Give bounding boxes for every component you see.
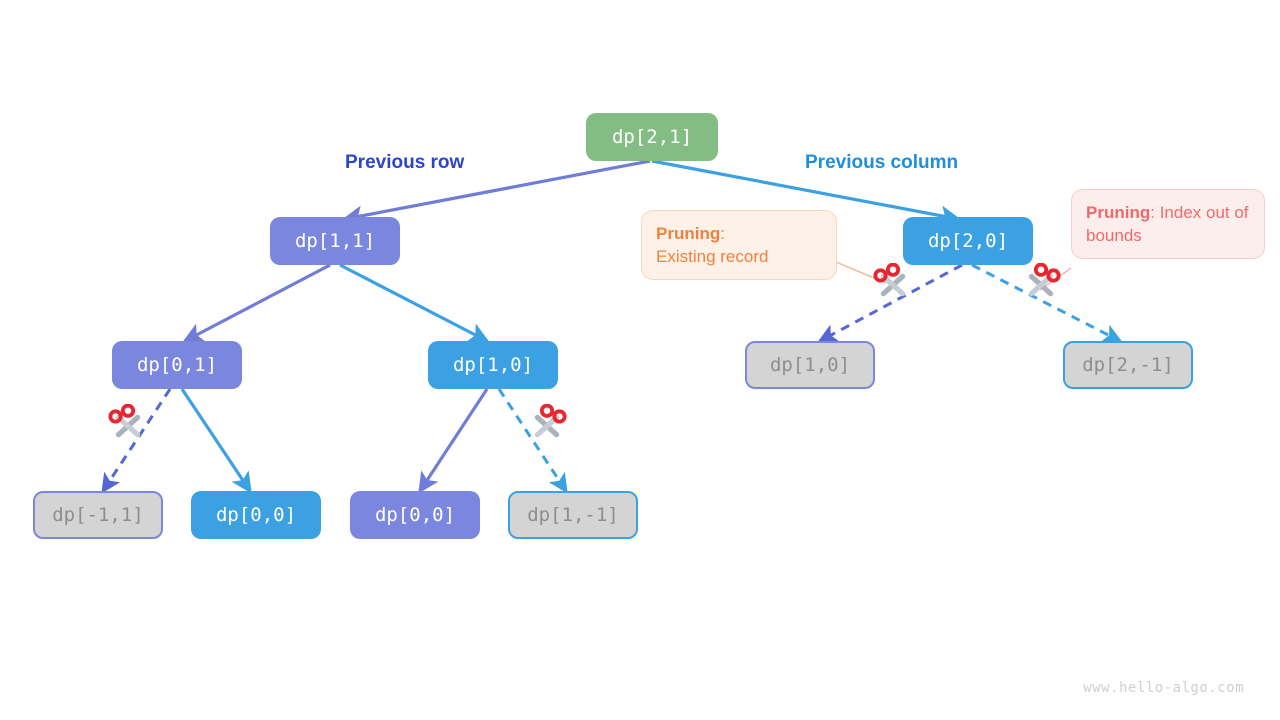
node-l1-right-label: dp[2,0] [928,230,1008,252]
edge-l1-left-to-l2-b [340,265,487,341]
node-l3-d-pruned[interactable]: dp[1,-1] [508,491,638,539]
branch-label-previous-row: Previous row [345,152,464,174]
scissors-icon-l2b-right [524,404,570,450]
edge-l2-b-to-l3-c [420,389,487,491]
scissors-icon-l1r-right [1018,263,1064,309]
watermark: www.hello-algo.com [1083,680,1244,696]
scissors-icon-l2a-left [105,404,151,450]
node-l3-a-label: dp[-1,1] [52,504,144,526]
callout-pruning-index-out-of-bounds: Pruning: Index out of bounds [1071,189,1265,259]
node-l2-b-label: dp[1,0] [453,354,533,376]
node-l1-left-label: dp[1,1] [295,230,375,252]
node-l1-right[interactable]: dp[2,0] [903,217,1033,265]
node-l2-a[interactable]: dp[0,1] [112,341,242,389]
node-l3-c-label: dp[0,0] [375,504,455,526]
node-l3-c[interactable]: dp[0,0] [350,491,480,539]
node-l2-d-label: dp[2,-1] [1082,354,1174,376]
branch-label-previous-column: Previous column [805,152,958,174]
node-root-label: dp[2,1] [612,126,692,148]
node-l2-c-label: dp[1,0] [770,354,850,376]
callout-index-bounds-sep: : [1150,203,1155,222]
node-l2-b[interactable]: dp[1,0] [428,341,558,389]
node-l3-a-pruned[interactable]: dp[-1,1] [33,491,163,539]
edge-l2-a-to-l3-b [182,389,250,491]
node-l2-a-label: dp[0,1] [137,354,217,376]
scissors-icon-l1r-left [870,263,916,309]
callout-index-bounds-strong: Pruning [1086,203,1150,222]
edge-l1-left-to-l2-a [185,265,330,341]
node-l2-d-pruned[interactable]: dp[2,-1] [1063,341,1193,389]
callout-existing-record-text: Existing record [656,247,768,266]
callout-existing-record-sep: : [720,224,725,243]
callout-existing-record-strong: Pruning [656,224,720,243]
node-l3-b-label: dp[0,0] [216,504,296,526]
node-l3-b[interactable]: dp[0,0] [191,491,321,539]
callout-pruning-existing-record: Pruning: Existing record [641,210,837,280]
diagram-canvas: dp[2,1] dp[1,1] dp[2,0] dp[0,1] dp[1,0] … [0,0,1280,720]
node-root[interactable]: dp[2,1] [586,113,718,161]
node-l2-c-pruned[interactable]: dp[1,0] [745,341,875,389]
node-l1-left[interactable]: dp[1,1] [270,217,400,265]
node-l3-d-label: dp[1,-1] [527,504,619,526]
